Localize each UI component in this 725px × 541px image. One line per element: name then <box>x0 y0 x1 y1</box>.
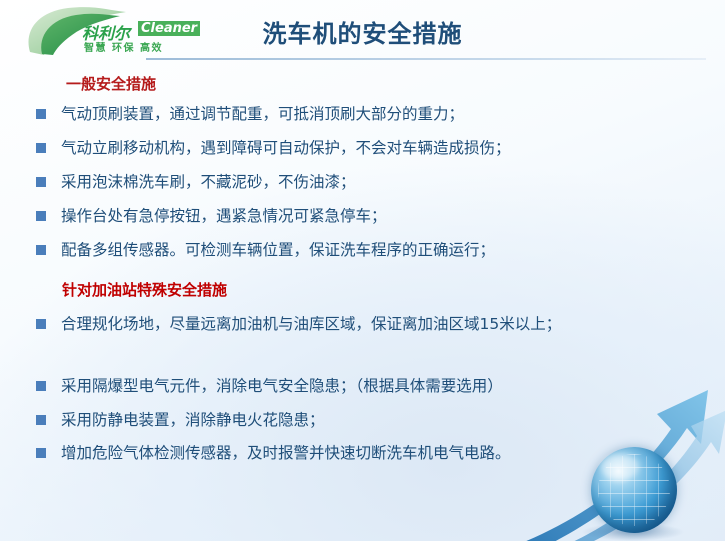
list-item-text: 气动立刷移动机构，遇到障碍可自动保护，不会对车辆造成损伤； <box>61 134 511 162</box>
section-heading-gas-station: 针对加油站特殊安全措施 <box>62 279 227 300</box>
square-bullet-icon <box>36 109 46 119</box>
square-bullet-icon <box>36 415 46 425</box>
list-item-text: 增加危险气体检测传感器，及时报警并快速切断洗车机电气电路。 <box>61 439 511 467</box>
list-item: 采用隔爆型电气元件，消除电气安全隐患；（根据具体需要选用） <box>36 372 503 400</box>
section-heading-general: 一般安全措施 <box>66 73 156 94</box>
list-item: 操作台处有急停按钮，遇紧急情况可紧急停车； <box>36 202 387 230</box>
list-item: 气动立刷移动机构，遇到障碍可自动保护，不会对车辆造成损伤； <box>36 134 511 162</box>
square-bullet-icon <box>36 177 46 187</box>
title-divider <box>146 58 706 60</box>
square-bullet-icon <box>36 245 46 255</box>
globe-shadow <box>581 523 685 541</box>
list-item-text: 操作台处有急停按钮，遇紧急情况可紧急停车； <box>61 202 387 230</box>
square-bullet-icon <box>36 381 46 391</box>
list-item-text: 配备多组传感器。可检测车辆位置，保证洗车程序的正确运行； <box>61 236 495 264</box>
list-item: 采用防静电装置，消除静电火花隐患； <box>36 406 325 434</box>
list-item: 合理规化场地，尽量远离加油机与油库区域，保证离加油区域15米以上； <box>36 310 696 338</box>
list-item-text: 采用隔爆型电气元件，消除电气安全隐患；（根据具体需要选用） <box>61 372 503 400</box>
square-bullet-icon <box>36 319 46 329</box>
page-title: 洗车机的安全措施 <box>0 14 725 49</box>
square-bullet-icon <box>36 211 46 221</box>
list-item: 增加危险气体检测传感器，及时报警并快速切断洗车机电气电路。 <box>36 439 511 467</box>
list-item-text: 气动顶刷装置，通过调节配重，可抵消顶刷大部分的重力； <box>61 100 464 128</box>
slide-header: 科利尔 Cleaner 智慧 环保 高效 洗车机的安全措施 <box>0 0 725 64</box>
slide-canvas: 科利尔 Cleaner 智慧 环保 高效 洗车机的安全措施 一般安全措施 针对加… <box>0 0 725 541</box>
list-item-text: 合理规化场地，尽量远离加油机与油库区域，保证离加油区域15米以上； <box>61 310 561 338</box>
list-item-text: 采用泡沫棉洗车刷，不藏泥砂，不伤油漆； <box>61 168 356 196</box>
blue-swoosh-arrow-icon <box>505 384 725 541</box>
square-bullet-icon <box>36 143 46 153</box>
list-item: 配备多组传感器。可检测车辆位置，保证洗车程序的正确运行； <box>36 236 495 264</box>
square-bullet-icon <box>36 448 46 458</box>
list-item: 气动顶刷装置，通过调节配重，可抵消顶刷大部分的重力； <box>36 100 464 128</box>
list-item-text: 采用防静电装置，消除静电火花隐患； <box>61 406 325 434</box>
list-item: 采用泡沫棉洗车刷，不藏泥砂，不伤油漆； <box>36 168 356 196</box>
blue-globe-icon <box>591 447 677 533</box>
